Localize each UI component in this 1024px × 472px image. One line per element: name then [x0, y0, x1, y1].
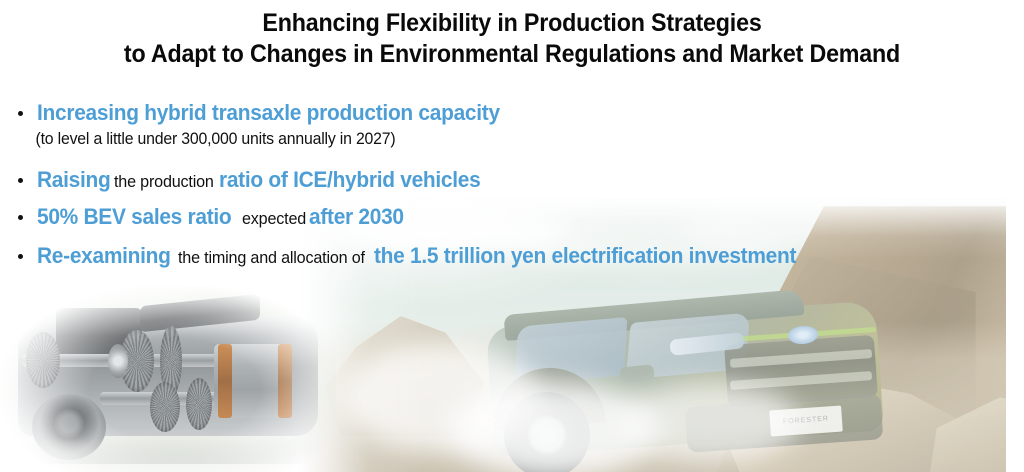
transaxle-shaft [22, 354, 242, 367]
vehicle-grille [724, 335, 878, 407]
transaxle-gear-hub [108, 344, 128, 378]
transaxle-photo-background [0, 286, 336, 472]
bullet-1-segment-1: Increasing hybrid transaxle production c… [37, 100, 500, 126]
bullet-item-1: Increasing hybrid transaxle production c… [0, 100, 1024, 127]
vehicle-wheel-arch [490, 364, 606, 430]
transaxle-shaft [100, 392, 270, 405]
transaxle-housing [18, 316, 318, 436]
dust-cloud [620, 382, 800, 462]
bullet-item-3: 50% BEV sales ratio expected after 2030 [0, 204, 1024, 231]
transaxle-gear [120, 330, 154, 392]
motor-copper-winding [218, 344, 232, 418]
vehicle-headlight [669, 332, 744, 356]
boulder [730, 376, 980, 472]
vehicle-windshield [626, 312, 750, 379]
transaxle-gear [26, 332, 60, 388]
vehicle-front-bumper [685, 393, 884, 453]
transaxle-casing-section [140, 294, 260, 333]
electric-motor-section [214, 344, 290, 418]
transaxle-gear [160, 326, 182, 396]
rocky-ground [300, 322, 1006, 472]
dust-cloud [340, 342, 540, 452]
bullet-2-segment-3: ratio of ICE/hybrid vehicles [219, 167, 480, 193]
dust-cloud [450, 382, 660, 472]
bullet-3-segment-3: after 2030 [309, 204, 404, 230]
vehicle-body [486, 301, 884, 458]
boulder [920, 392, 1006, 472]
bullet-3-segment-1: 50% BEV sales ratio [37, 204, 231, 230]
background-foliage [186, 286, 336, 406]
vehicle-badge-plate: FORESTER [769, 406, 843, 437]
transaxle-gear [150, 382, 180, 432]
bullet-4-segment-2: the timing and allocation of [178, 248, 365, 268]
transaxle-mount-base [10, 438, 326, 464]
motor-copper-winding [278, 344, 292, 418]
bullet-marker-icon [18, 215, 23, 220]
bullet-item-2: Raising the production ratio of ICE/hybr… [0, 167, 1024, 194]
vehicle-front-wheel [501, 389, 593, 472]
subaru-logo-icon [787, 325, 818, 345]
vehicle-rear-window [515, 317, 628, 385]
bullet-marker-icon [18, 254, 23, 259]
bullet-4-segment-1: Re-examining [37, 243, 171, 269]
title-line-2: to Adapt to Changes in Environmental Reg… [36, 39, 988, 70]
bullet-2-segment-2: the production [114, 172, 214, 192]
slide-title: Enhancing Flexibility in Production Stra… [0, 8, 1024, 70]
differential-assembly [32, 394, 106, 460]
bullet-list: Increasing hybrid transaxle production c… [0, 100, 1024, 270]
grille-bar [730, 371, 872, 390]
presentation-slide: FORESTER [0, 0, 1024, 472]
transaxle-gear [186, 378, 212, 430]
vehicle-green-trim [730, 327, 876, 342]
rock-cliff-right-detail [746, 256, 976, 456]
bullet-item-4: Re-examining the timing and allocation o… [0, 243, 1024, 270]
bullet-2-segment-1: Raising [37, 167, 111, 193]
rock-outcrop-left [324, 316, 484, 436]
suv-vehicle: FORESTER [480, 296, 900, 472]
bullet-marker-icon [18, 111, 23, 116]
bullet-1-subnote: (to level a little under 300,000 units a… [0, 130, 983, 149]
bullet-3-segment-2: expected [242, 209, 306, 229]
title-line-1: Enhancing Flexibility in Production Stra… [36, 8, 988, 39]
transaxle-casing-section [56, 308, 142, 354]
vehicle-roof [503, 289, 804, 341]
vehicle-side-mirror [619, 364, 654, 383]
grille-bar [730, 349, 872, 368]
bullet-marker-icon [18, 178, 23, 183]
hybrid-transaxle-cutaway-photo [0, 286, 336, 472]
bullet-4-segment-3: the 1.5 trillion yen electrification inv… [374, 243, 796, 269]
